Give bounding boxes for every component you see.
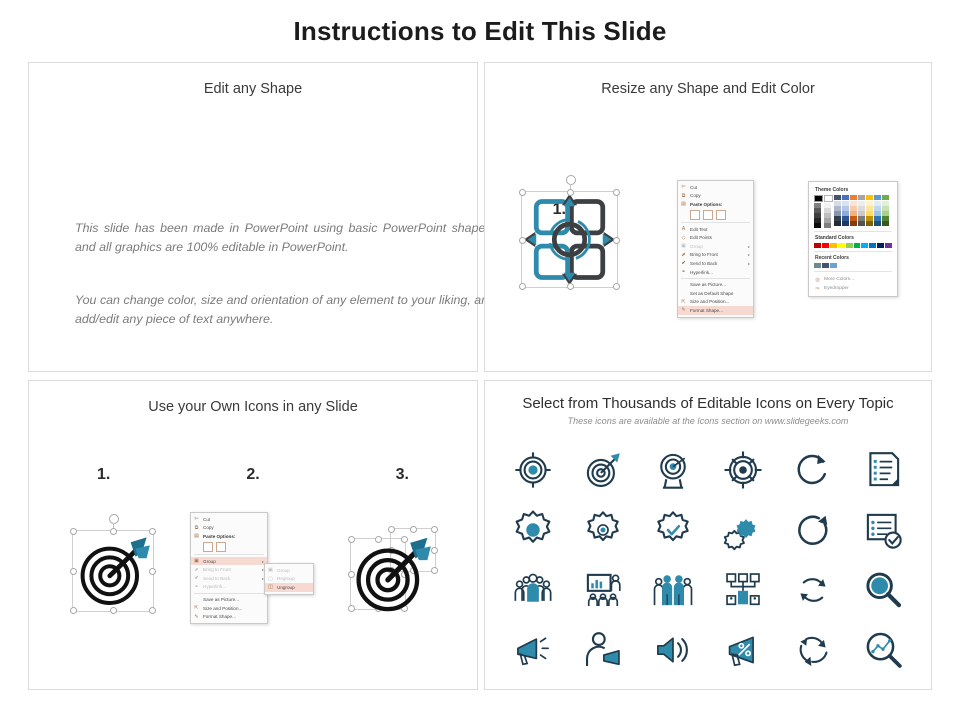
two-arrow-cycle-icon xyxy=(792,569,834,611)
menu-item-label: Save as Picture... xyxy=(203,597,264,602)
step-number-1: 1. xyxy=(29,466,178,484)
eyedropper-icon: ✑ xyxy=(814,285,821,292)
theme-color-column xyxy=(842,195,849,228)
resize-handle-bottom-center[interactable] xyxy=(110,607,117,614)
theme-swatch[interactable] xyxy=(814,223,821,228)
edit-points-icon: ◇ xyxy=(680,234,687,241)
edit-shape-paragraph-1: This slide has been made in PowerPoint u… xyxy=(75,219,495,257)
theme-swatch[interactable] xyxy=(874,221,881,226)
icon-cell[interactable] xyxy=(778,440,848,500)
menu-item-hyperlink[interactable]: ⚭Hyperlink... xyxy=(191,583,267,592)
menu-item-cut[interactable]: ✄Cut xyxy=(191,515,267,524)
recent-colors-heading: Recent Colors xyxy=(815,255,892,261)
recent-swatch[interactable] xyxy=(822,263,829,268)
rotate-handle[interactable] xyxy=(566,175,576,185)
chevron-right-icon: ▸ xyxy=(748,252,750,257)
save-picture-icon xyxy=(193,596,200,603)
menu-item-edit-points[interactable]: ◇Edit Points xyxy=(678,233,753,242)
people-crowd-icon xyxy=(652,569,694,611)
menu-separator xyxy=(681,222,750,223)
gear-small-icon xyxy=(582,509,624,551)
checklist-approved-icon xyxy=(862,509,904,551)
standard-swatch[interactable] xyxy=(885,243,892,248)
panel-title-edit-shape: Edit any Shape xyxy=(29,81,477,97)
menu-item-label: Copy xyxy=(203,525,264,530)
menu-item-bring-to-front[interactable]: ⬈Bring to Front▸ xyxy=(191,565,267,574)
menu-separator xyxy=(681,278,750,279)
team-group-icon xyxy=(512,569,554,611)
icon-cell[interactable] xyxy=(778,620,848,680)
magnifier-chart-icon xyxy=(862,629,904,671)
resize-handle-middle-right[interactable] xyxy=(613,237,620,244)
scissors-icon: ✄ xyxy=(193,516,200,523)
target-dartboard-arrow-icon xyxy=(350,530,436,616)
paste-icon: ▤ xyxy=(193,533,200,540)
standard-swatch[interactable] xyxy=(869,243,876,248)
menu-item-group[interactable]: ▣Group▸ xyxy=(191,557,267,566)
standard-colors-heading: Standard Colors xyxy=(815,235,892,241)
icon-cell[interactable] xyxy=(568,440,638,500)
target-dartboard-arrow-icon xyxy=(73,531,153,611)
standard-swatch[interactable] xyxy=(830,243,837,248)
icon-cell[interactable] xyxy=(498,560,568,620)
theme-colors-heading: Theme Colors xyxy=(815,187,892,193)
refresh-arrow-icon xyxy=(792,449,834,491)
selected-shape-frame[interactable] xyxy=(521,191,618,288)
step-number-3: 3. xyxy=(328,466,477,484)
menu-item-copy[interactable]: ⧉Copy xyxy=(191,524,267,533)
theme-color-column xyxy=(882,195,889,228)
menu-item-label: Save as Picture... xyxy=(690,282,750,287)
theme-color-column xyxy=(814,195,823,228)
send-back-icon: ⬋ xyxy=(193,575,200,582)
four-square-arrows-shape-icon xyxy=(522,192,617,287)
resize-handle-bottom-left[interactable] xyxy=(70,607,77,614)
resize-handle-bottom-right[interactable] xyxy=(149,607,156,614)
menu-item-send-to-back[interactable]: ⬋Send to Back▸ xyxy=(191,574,267,583)
theme-color-column xyxy=(850,195,857,228)
icon-cell[interactable] xyxy=(638,560,708,620)
theme-swatch[interactable] xyxy=(866,221,873,226)
resize-handle-middle-left[interactable] xyxy=(519,237,526,244)
save-picture-icon xyxy=(680,281,687,288)
copy-icon: ⧉ xyxy=(193,524,200,531)
paste-picture-icon[interactable] xyxy=(703,210,713,220)
color-separator xyxy=(814,271,892,272)
size-position-icon: ⇱ xyxy=(193,605,200,612)
icon-cell[interactable] xyxy=(568,500,638,560)
ungrouped-icon-selection[interactable] xyxy=(350,528,438,614)
target-dartboard-icon xyxy=(582,449,624,491)
group-icon: ▣ xyxy=(193,558,200,565)
menu-item-label: Send to Back xyxy=(203,576,260,581)
theme-swatch[interactable] xyxy=(866,195,873,200)
megaphone-icon xyxy=(512,629,554,671)
standard-swatch[interactable] xyxy=(861,243,868,248)
circular-arrow-icon xyxy=(792,509,834,551)
eyedropper-label: Eyedropper xyxy=(824,286,849,291)
menu-item-bring-to-front[interactable]: ⬈Bring to Front▸ xyxy=(678,251,753,260)
size-position-icon: ⇱ xyxy=(680,298,687,305)
menu-item-label: Set as Default Shape xyxy=(690,291,750,296)
icon-cell[interactable] xyxy=(778,500,848,560)
send-back-icon: ⬋ xyxy=(680,260,687,267)
menu-item-cut[interactable]: ✄Cut xyxy=(678,183,753,192)
theme-swatch[interactable] xyxy=(858,195,865,200)
menu-item-label: Copy xyxy=(690,193,750,198)
recent-swatch[interactable] xyxy=(830,263,837,268)
resize-handle-top-right[interactable] xyxy=(613,189,620,196)
menu-item-paste-options[interactable]: ▤Paste Options: xyxy=(678,200,753,209)
resize-handle-middle-right[interactable] xyxy=(149,568,156,575)
theme-swatch[interactable] xyxy=(874,195,881,200)
theme-color-column xyxy=(834,195,841,228)
standard-colors-row[interactable] xyxy=(814,243,892,248)
menu-item-label: Cut xyxy=(690,185,750,190)
icon-cell[interactable] xyxy=(708,440,778,500)
org-chart-icon xyxy=(722,569,764,611)
magnifier-icon xyxy=(862,569,904,611)
hyperlink-icon: ⚭ xyxy=(193,583,200,590)
resize-handle-top-left[interactable] xyxy=(519,189,526,196)
menu-item-format-shape[interactable]: ✎Format Shape... xyxy=(191,612,267,621)
chevron-right-icon: ▸ xyxy=(748,261,750,266)
gear-check-icon xyxy=(652,509,694,551)
standard-swatch[interactable] xyxy=(822,243,829,248)
icon-cell[interactable] xyxy=(638,500,708,560)
panel-edit-any-shape: Edit any Shape This slide has been made … xyxy=(28,62,478,372)
icon-cell[interactable] xyxy=(848,560,918,620)
eyedropper-button[interactable]: ✑Eyedropper xyxy=(814,284,892,293)
copy-icon: ⧉ xyxy=(680,192,687,199)
theme-swatch[interactable] xyxy=(814,195,823,202)
menu-item-label: Format Shape... xyxy=(690,308,750,313)
edit-shape-paragraph-2: You can change color, size and orientati… xyxy=(75,291,495,329)
theme-color-column xyxy=(824,195,833,228)
paste-keep-formatting-icon[interactable] xyxy=(203,542,213,552)
menu-item-label: Paste Options: xyxy=(690,202,750,207)
menu-item-label: Size and Position... xyxy=(203,606,264,611)
menu-item-format-shape[interactable]: ✎Format Shape... xyxy=(678,306,753,315)
slide-canvas: Instructions to Edit This Slide Edit any… xyxy=(0,0,960,720)
menu-item-paste-options[interactable]: ▤Paste Options: xyxy=(191,532,267,541)
bring-front-icon: ⬈ xyxy=(680,251,687,258)
theme-swatch[interactable] xyxy=(824,223,831,228)
icon-cell[interactable] xyxy=(848,440,918,500)
group-context-menu[interactable]: ✄Cut ⧉Copy ▤Paste Options: ▣Group▸ ⬈Brin… xyxy=(190,512,268,624)
format-shape-icon: ✎ xyxy=(680,307,687,314)
panel-title-resize-shape: Resize any Shape and Edit Color xyxy=(485,81,931,97)
icon-cell[interactable] xyxy=(498,500,568,560)
icon-cell[interactable] xyxy=(708,500,778,560)
bring-front-icon: ⬈ xyxy=(193,566,200,573)
menu-item-label: Bring to Front xyxy=(203,567,260,572)
menu-item-label: Group xyxy=(203,559,260,564)
theme-swatch[interactable] xyxy=(850,195,857,200)
shape-context-menu[interactable]: ✄Cut ⧉Copy ▤Paste Options: AEdit Text ◇E… xyxy=(677,180,754,318)
icon-cell[interactable] xyxy=(498,440,568,500)
menu-item-group[interactable]: ▣Group▸ xyxy=(678,242,753,251)
resize-handle-bottom-left[interactable] xyxy=(519,283,526,290)
menu-item-label: Group xyxy=(690,244,746,249)
paste-icon: ▤ xyxy=(680,201,687,208)
submenu-item-group[interactable]: ▣Group xyxy=(265,566,313,575)
three-arrow-cycle-icon xyxy=(792,629,834,671)
color-separator xyxy=(814,231,892,232)
menu-item-save-as-picture[interactable]: Save as Picture... xyxy=(678,280,753,289)
menu-item-label: Hyperlink... xyxy=(203,584,264,589)
menu-separator xyxy=(194,593,264,594)
menu-item-hyperlink[interactable]: ⚭Hyperlink... xyxy=(678,268,753,277)
speaker-loud-icon xyxy=(652,629,694,671)
group-icon: ▣ xyxy=(680,243,687,250)
panel-title-own-icons: Use your Own Icons in any Slide xyxy=(29,399,477,415)
menu-item-size-and-position[interactable]: ⇱Size and Position... xyxy=(191,604,267,613)
menu-item-label: Regroup xyxy=(277,576,310,581)
menu-item-edit-text[interactable]: AEdit Text xyxy=(678,225,753,234)
paste-text-only-icon[interactable] xyxy=(716,210,726,220)
theme-swatch[interactable] xyxy=(850,221,857,226)
menu-item-label: Cut xyxy=(203,517,264,522)
person-megaphone-icon xyxy=(582,629,624,671)
gears-pair-icon xyxy=(722,509,764,551)
menu-item-label: Send to Back xyxy=(690,261,746,266)
menu-item-save-as-picture[interactable]: Save as Picture... xyxy=(191,595,267,604)
megaphone-percent-icon xyxy=(722,629,764,671)
theme-swatch[interactable] xyxy=(824,195,833,202)
paste-option-buttons[interactable] xyxy=(191,541,267,553)
paste-picture-icon[interactable] xyxy=(216,542,226,552)
presentation-audience-icon xyxy=(582,569,624,611)
theme-color-column xyxy=(874,195,881,228)
menu-item-label: Hyperlink... xyxy=(690,270,750,275)
theme-colors-grid[interactable] xyxy=(814,195,892,228)
recent-colors-row[interactable] xyxy=(814,263,892,268)
crosshair-dot-icon xyxy=(722,449,764,491)
color-separator xyxy=(814,251,892,252)
icon-cell[interactable] xyxy=(848,500,918,560)
standard-swatch[interactable] xyxy=(814,243,821,248)
menu-separator xyxy=(194,554,264,555)
submenu-item-regroup[interactable]: ▢Regroup xyxy=(265,575,313,584)
menu-item-label: Size and Position... xyxy=(690,299,750,304)
group-icon: ▣ xyxy=(267,567,274,574)
regroup-icon: ▢ xyxy=(267,575,274,582)
panel-subtitle-editable-icons: These icons are available at the Icons s… xyxy=(485,416,931,426)
more-colors-label: More Colors... xyxy=(824,277,854,282)
step-number-2: 2. xyxy=(178,466,327,484)
own-icons-step-numbers: 1. 2. 3. xyxy=(29,466,477,484)
ungroup-icon: ◫ xyxy=(267,584,274,591)
menu-item-label: Edit Text xyxy=(690,227,750,232)
menu-item-set-default-shape[interactable]: Set as Default Shape xyxy=(678,289,753,298)
resize-handle-middle-left[interactable] xyxy=(70,568,77,575)
theme-color-column xyxy=(858,195,865,228)
default-shape-icon xyxy=(680,290,687,297)
menu-item-label: Ungroup xyxy=(277,585,310,590)
resize-handle-top-center[interactable] xyxy=(567,189,574,196)
menu-item-label: Edit Points xyxy=(690,235,750,240)
theme-swatch[interactable] xyxy=(834,195,841,200)
recent-swatch[interactable] xyxy=(814,263,821,268)
panel-title-editable-icons: Select from Thousands of Editable Icons … xyxy=(485,395,931,412)
edit-text-icon: A xyxy=(680,226,687,233)
icon-cell[interactable] xyxy=(638,440,708,500)
standard-swatch[interactable] xyxy=(846,243,853,248)
theme-swatch[interactable] xyxy=(882,221,889,226)
icon-cell[interactable] xyxy=(848,620,918,680)
theme-color-column xyxy=(866,195,873,228)
format-shape-icon: ✎ xyxy=(193,613,200,620)
icon-cell[interactable] xyxy=(498,620,568,680)
color-picker-panel[interactable]: Theme Colors Standard Colors Recent Colo… xyxy=(808,181,898,297)
theme-swatch[interactable] xyxy=(842,195,849,200)
menu-item-size-and-position[interactable]: ⇱Size and Position... xyxy=(678,298,753,307)
menu-item-label: Format Shape... xyxy=(203,614,264,619)
resize-handle-bottom-right[interactable] xyxy=(613,283,620,290)
chevron-right-icon: ▸ xyxy=(748,244,750,249)
menu-item-send-to-back[interactable]: ⬋Send to Back▸ xyxy=(678,259,753,268)
icon-cell[interactable] xyxy=(638,620,708,680)
theme-swatch[interactable] xyxy=(834,221,841,226)
resize-handle-top-left[interactable] xyxy=(70,528,77,535)
resize-handle-top-center[interactable] xyxy=(110,528,117,535)
group-submenu[interactable]: ▣Group ▢Regroup ◫Ungroup xyxy=(264,563,314,595)
theme-swatch[interactable] xyxy=(842,221,849,226)
menu-item-label: Group xyxy=(277,568,310,573)
paste-option-buttons[interactable] xyxy=(678,209,753,221)
rotate-handle[interactable] xyxy=(109,514,119,524)
target-crosshair-icon xyxy=(512,449,554,491)
paste-keep-formatting-icon[interactable] xyxy=(690,210,700,220)
scissors-icon: ✄ xyxy=(680,184,687,191)
standard-swatch[interactable] xyxy=(854,243,861,248)
menu-item-label: Bring to Front xyxy=(690,252,746,257)
resize-handle-top-right[interactable] xyxy=(149,528,156,535)
standard-swatch[interactable] xyxy=(838,243,845,248)
grouped-icon-frame[interactable] xyxy=(72,530,154,612)
icon-cell[interactable] xyxy=(568,620,638,680)
submenu-item-ungroup[interactable]: ◫Ungroup xyxy=(265,583,313,592)
icon-library-grid xyxy=(498,440,918,680)
more-colors-button[interactable]: ◎More Colors... xyxy=(814,275,892,284)
hyperlink-icon: ⚭ xyxy=(680,269,687,276)
page-title: Instructions to Edit This Slide xyxy=(0,16,960,47)
theme-swatch[interactable] xyxy=(882,195,889,200)
standard-swatch[interactable] xyxy=(877,243,884,248)
checklist-document-icon xyxy=(862,449,904,491)
icon-cell[interactable] xyxy=(708,560,778,620)
menu-item-label: Paste Options: xyxy=(203,534,264,539)
icon-cell[interactable] xyxy=(708,620,778,680)
resize-handle-bottom-center[interactable] xyxy=(567,283,574,290)
target-stand-icon xyxy=(652,449,694,491)
icon-cell[interactable] xyxy=(778,560,848,620)
theme-swatch[interactable] xyxy=(858,221,865,226)
icon-cell[interactable] xyxy=(568,560,638,620)
palette-icon: ◎ xyxy=(814,276,821,283)
gear-solid-icon xyxy=(512,509,554,551)
menu-item-copy[interactable]: ⧉Copy xyxy=(678,192,753,201)
